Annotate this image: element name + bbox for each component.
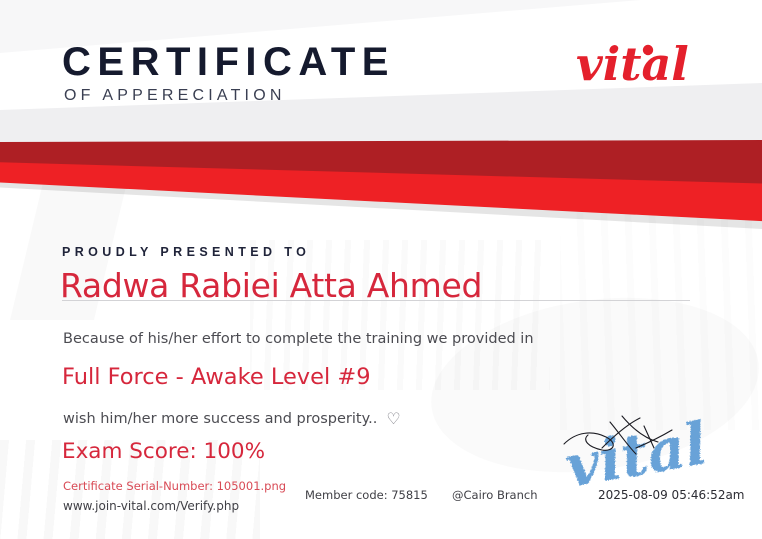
vital-logo: vital	[574, 38, 714, 90]
branch-label: @Cairo Branch	[452, 488, 538, 502]
vital-logo-text: vital	[576, 38, 689, 90]
stamp-text: vital	[560, 409, 712, 490]
course-name: Full Force - Awake Level #9	[62, 364, 371, 390]
page-title: CERTIFICATE	[62, 42, 395, 82]
certificate-serial-number: Certificate Serial-Number: 105001.png	[63, 479, 286, 493]
wish-row: wish him/her more success and prosperity…	[63, 411, 401, 427]
vital-logo-dot	[643, 45, 653, 55]
heart-icon: ♡	[386, 411, 400, 427]
reason-text: Because of his/her effort to complete th…	[63, 331, 534, 347]
verify-url[interactable]: www.join-vital.com/Verify.php	[63, 499, 239, 513]
page-subtitle: OF APPERECIATION	[64, 88, 286, 104]
issue-timestamp: 2025-08-09 05:46:52am	[598, 488, 745, 502]
exam-score: Exam Score: 100%	[62, 439, 265, 464]
certificate-document: CERTIFICATE OF APPERECIATION vital PROUD…	[0, 0, 762, 539]
member-code: Member code: 75815	[305, 488, 428, 502]
presented-to-label: PROUDLY PRESENTED TO	[62, 245, 310, 259]
wish-text: wish him/her more success and prosperity…	[63, 411, 377, 427]
divider-rule	[62, 300, 690, 301]
verification-stamp: vital	[558, 404, 728, 490]
